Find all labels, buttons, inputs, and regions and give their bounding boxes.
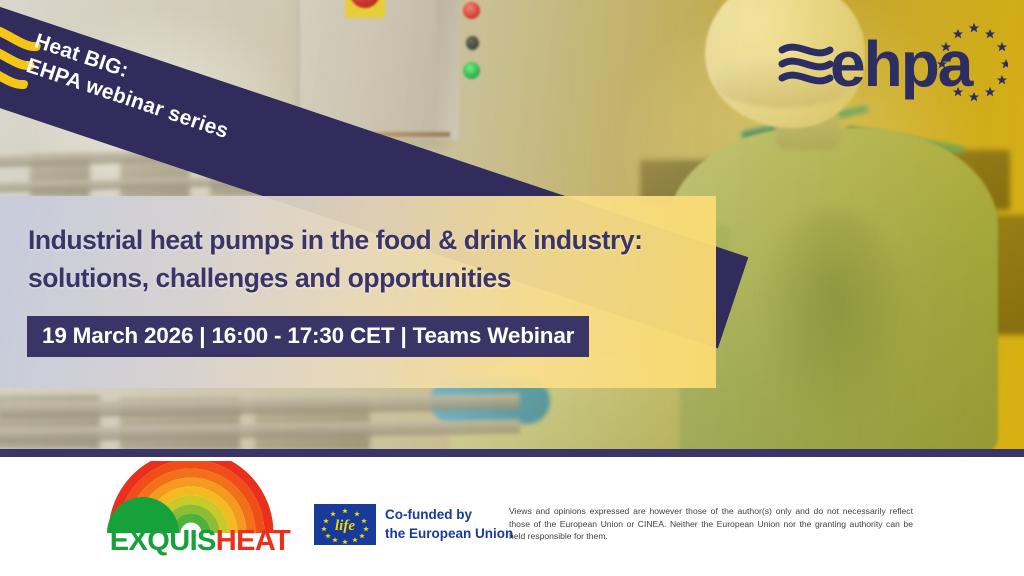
eu-funding-line-2: the European Union xyxy=(385,525,513,543)
eu-funding-text: Co-funded by the European Union xyxy=(385,506,513,543)
exquisheat-word-part2: HEAT xyxy=(216,525,290,557)
webinar-poster: Heat BIG: EHPA webinar series ehpa xyxy=(0,0,1024,576)
section-divider xyxy=(0,449,1024,457)
eu-funding-block: life Co-funded by the European Union xyxy=(314,504,513,545)
title-line-1: Industrial heat pumps in the food & drin… xyxy=(28,222,688,260)
life-wordmark: life xyxy=(335,518,355,534)
disclaimer-text: Views and opinions expressed are however… xyxy=(509,505,913,543)
exquisheat-word-part1: EXQUIS xyxy=(110,525,216,557)
page-title: Industrial heat pumps in the food & drin… xyxy=(28,222,688,297)
date-time-badge: 19 March 2026 | 16:00 - 17:30 CET | Team… xyxy=(27,316,589,357)
ehpa-wordmark: ehpa xyxy=(830,28,974,100)
exquisheat-wordmark: EXQUISHEAT xyxy=(95,525,305,558)
wave-lines-icon xyxy=(782,47,830,81)
eu-funding-line-1: Co-funded by xyxy=(385,506,513,524)
title-line-2: solutions, challenges and opportunities xyxy=(28,260,688,298)
eu-flag-life-icon: life xyxy=(314,504,376,545)
ehpa-logo[interactable]: ehpa xyxy=(778,14,1008,106)
